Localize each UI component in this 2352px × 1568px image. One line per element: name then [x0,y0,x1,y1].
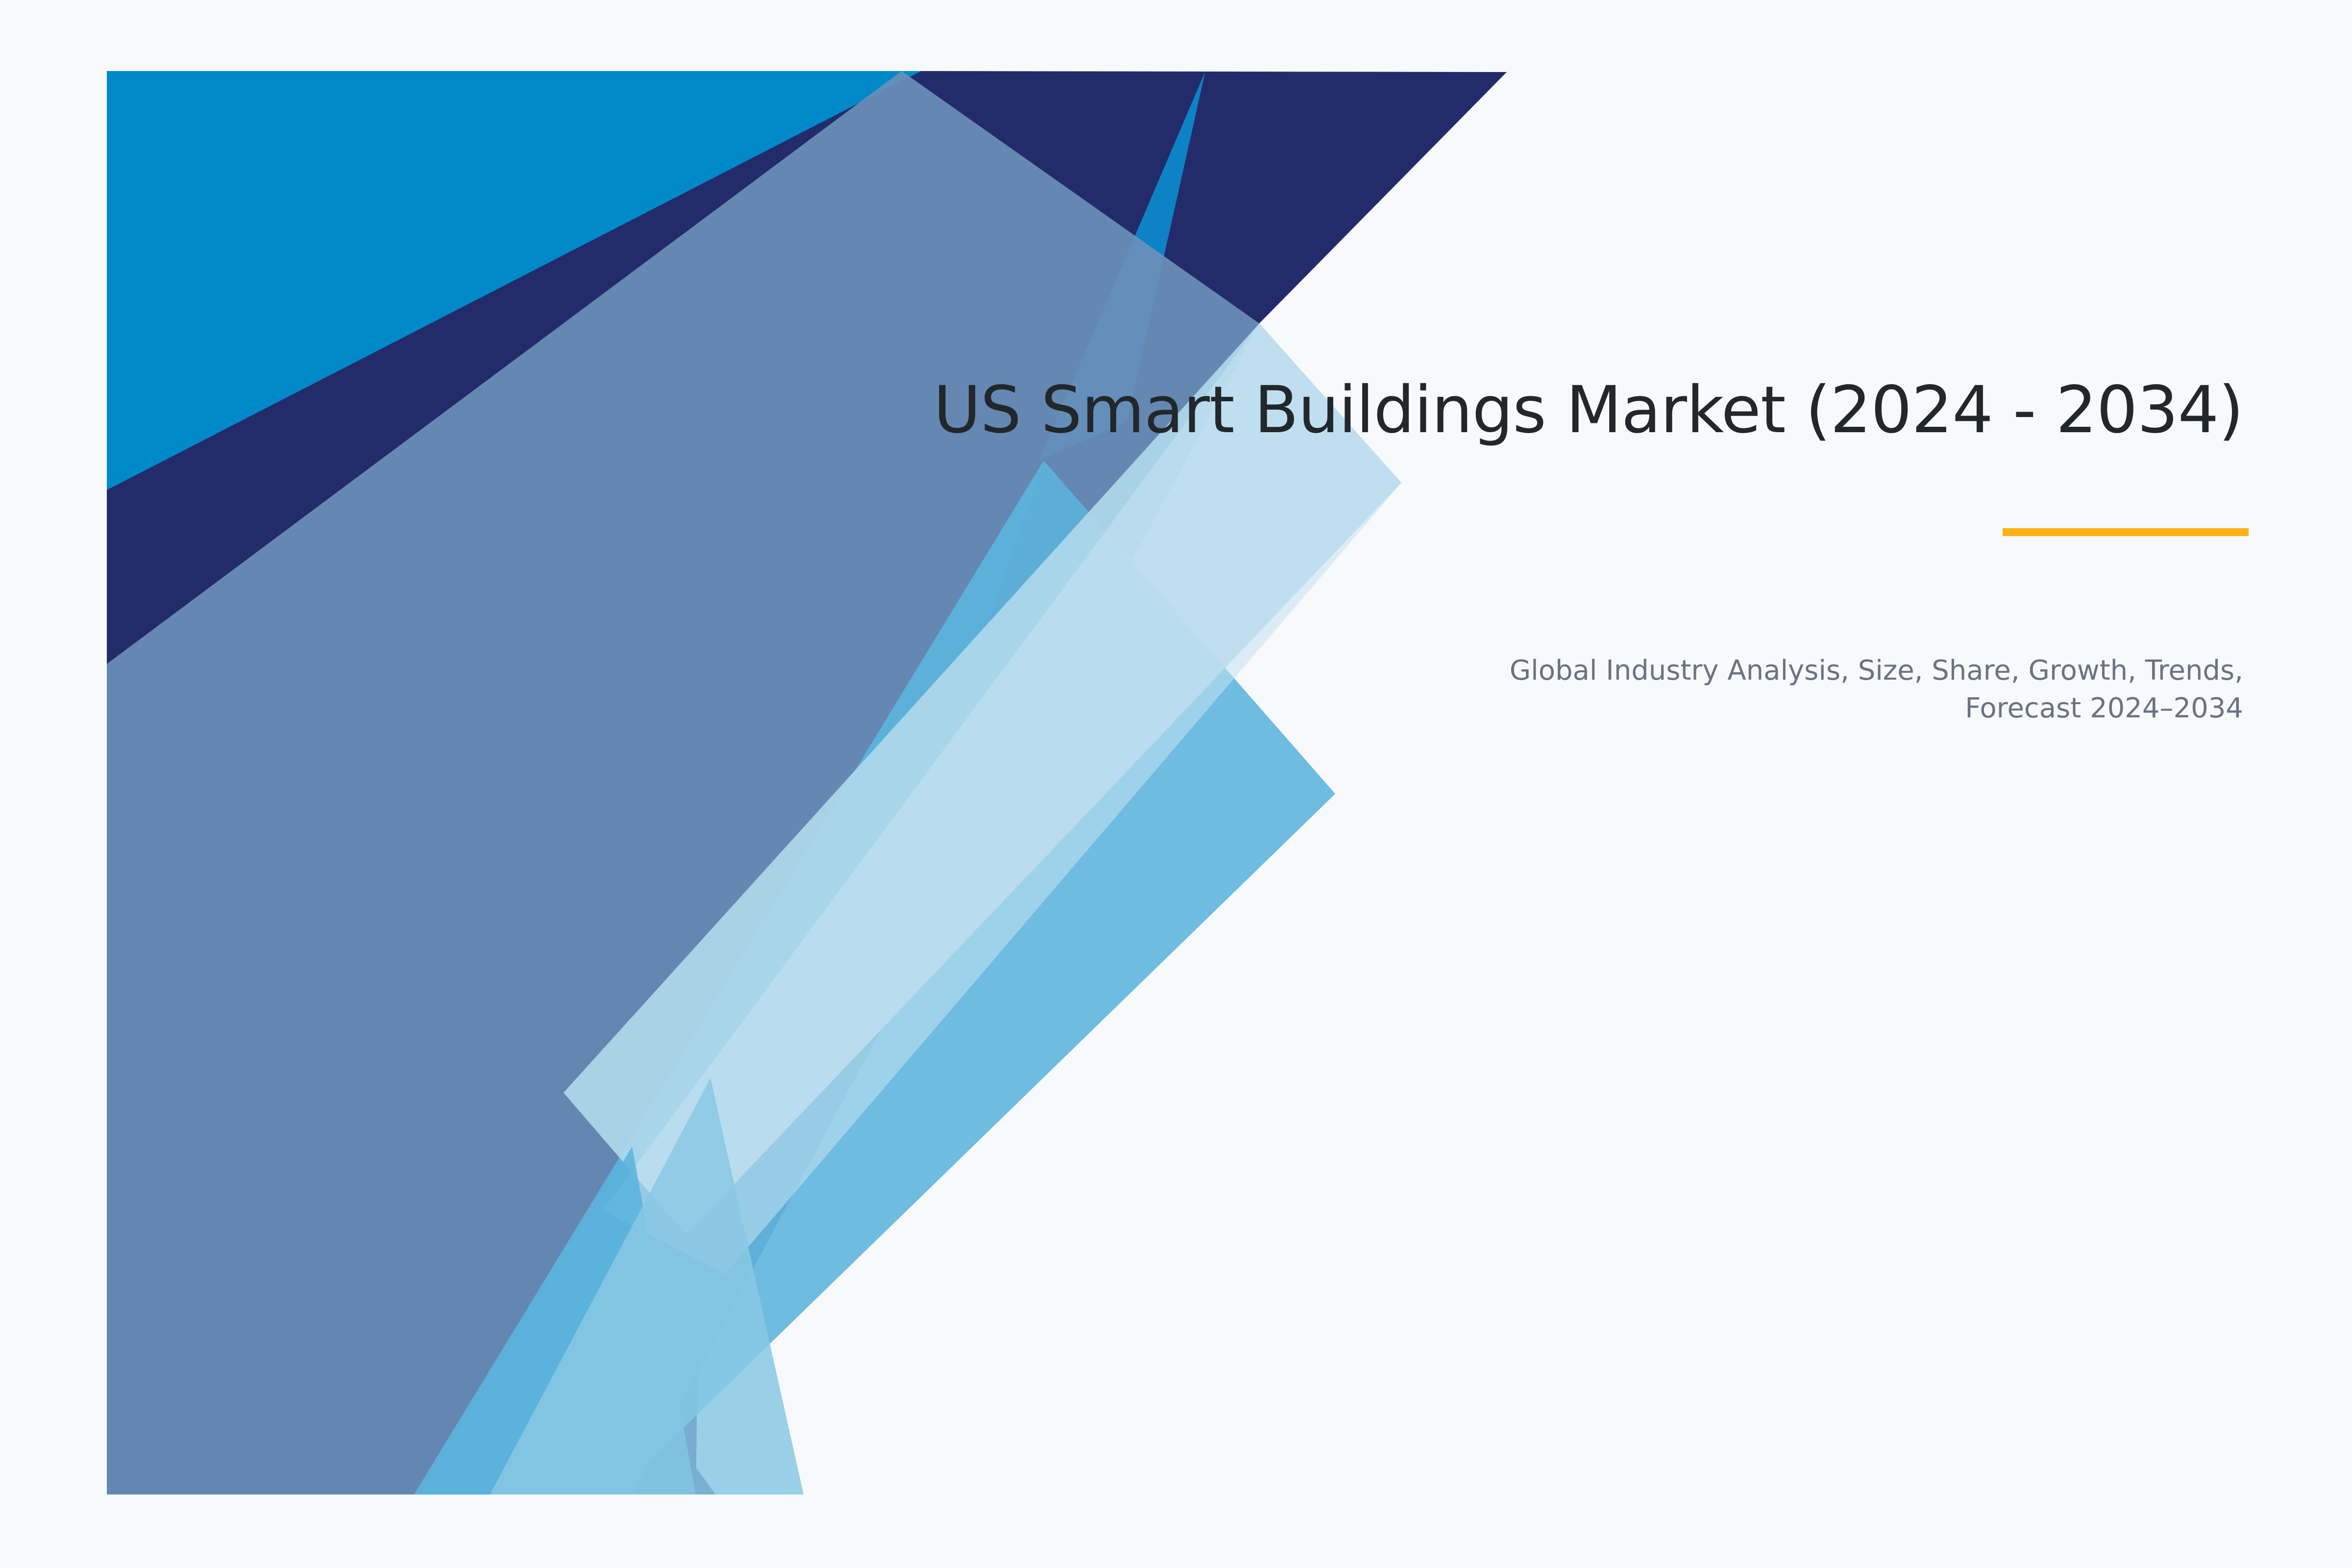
title-accent-underline [2003,528,2249,536]
cover-text-block: US Smart Buildings Market (2024 - 2034) [735,372,2243,449]
abstract-geometric-artwork [0,0,2352,1568]
report-cover-page: US Smart Buildings Market (2024 - 2034) … [0,0,2352,1568]
page-subtitle: Global Industry Analysis, Size, Share, G… [1421,652,2243,728]
page-title: US Smart Buildings Market (2024 - 2034) [735,372,2243,449]
